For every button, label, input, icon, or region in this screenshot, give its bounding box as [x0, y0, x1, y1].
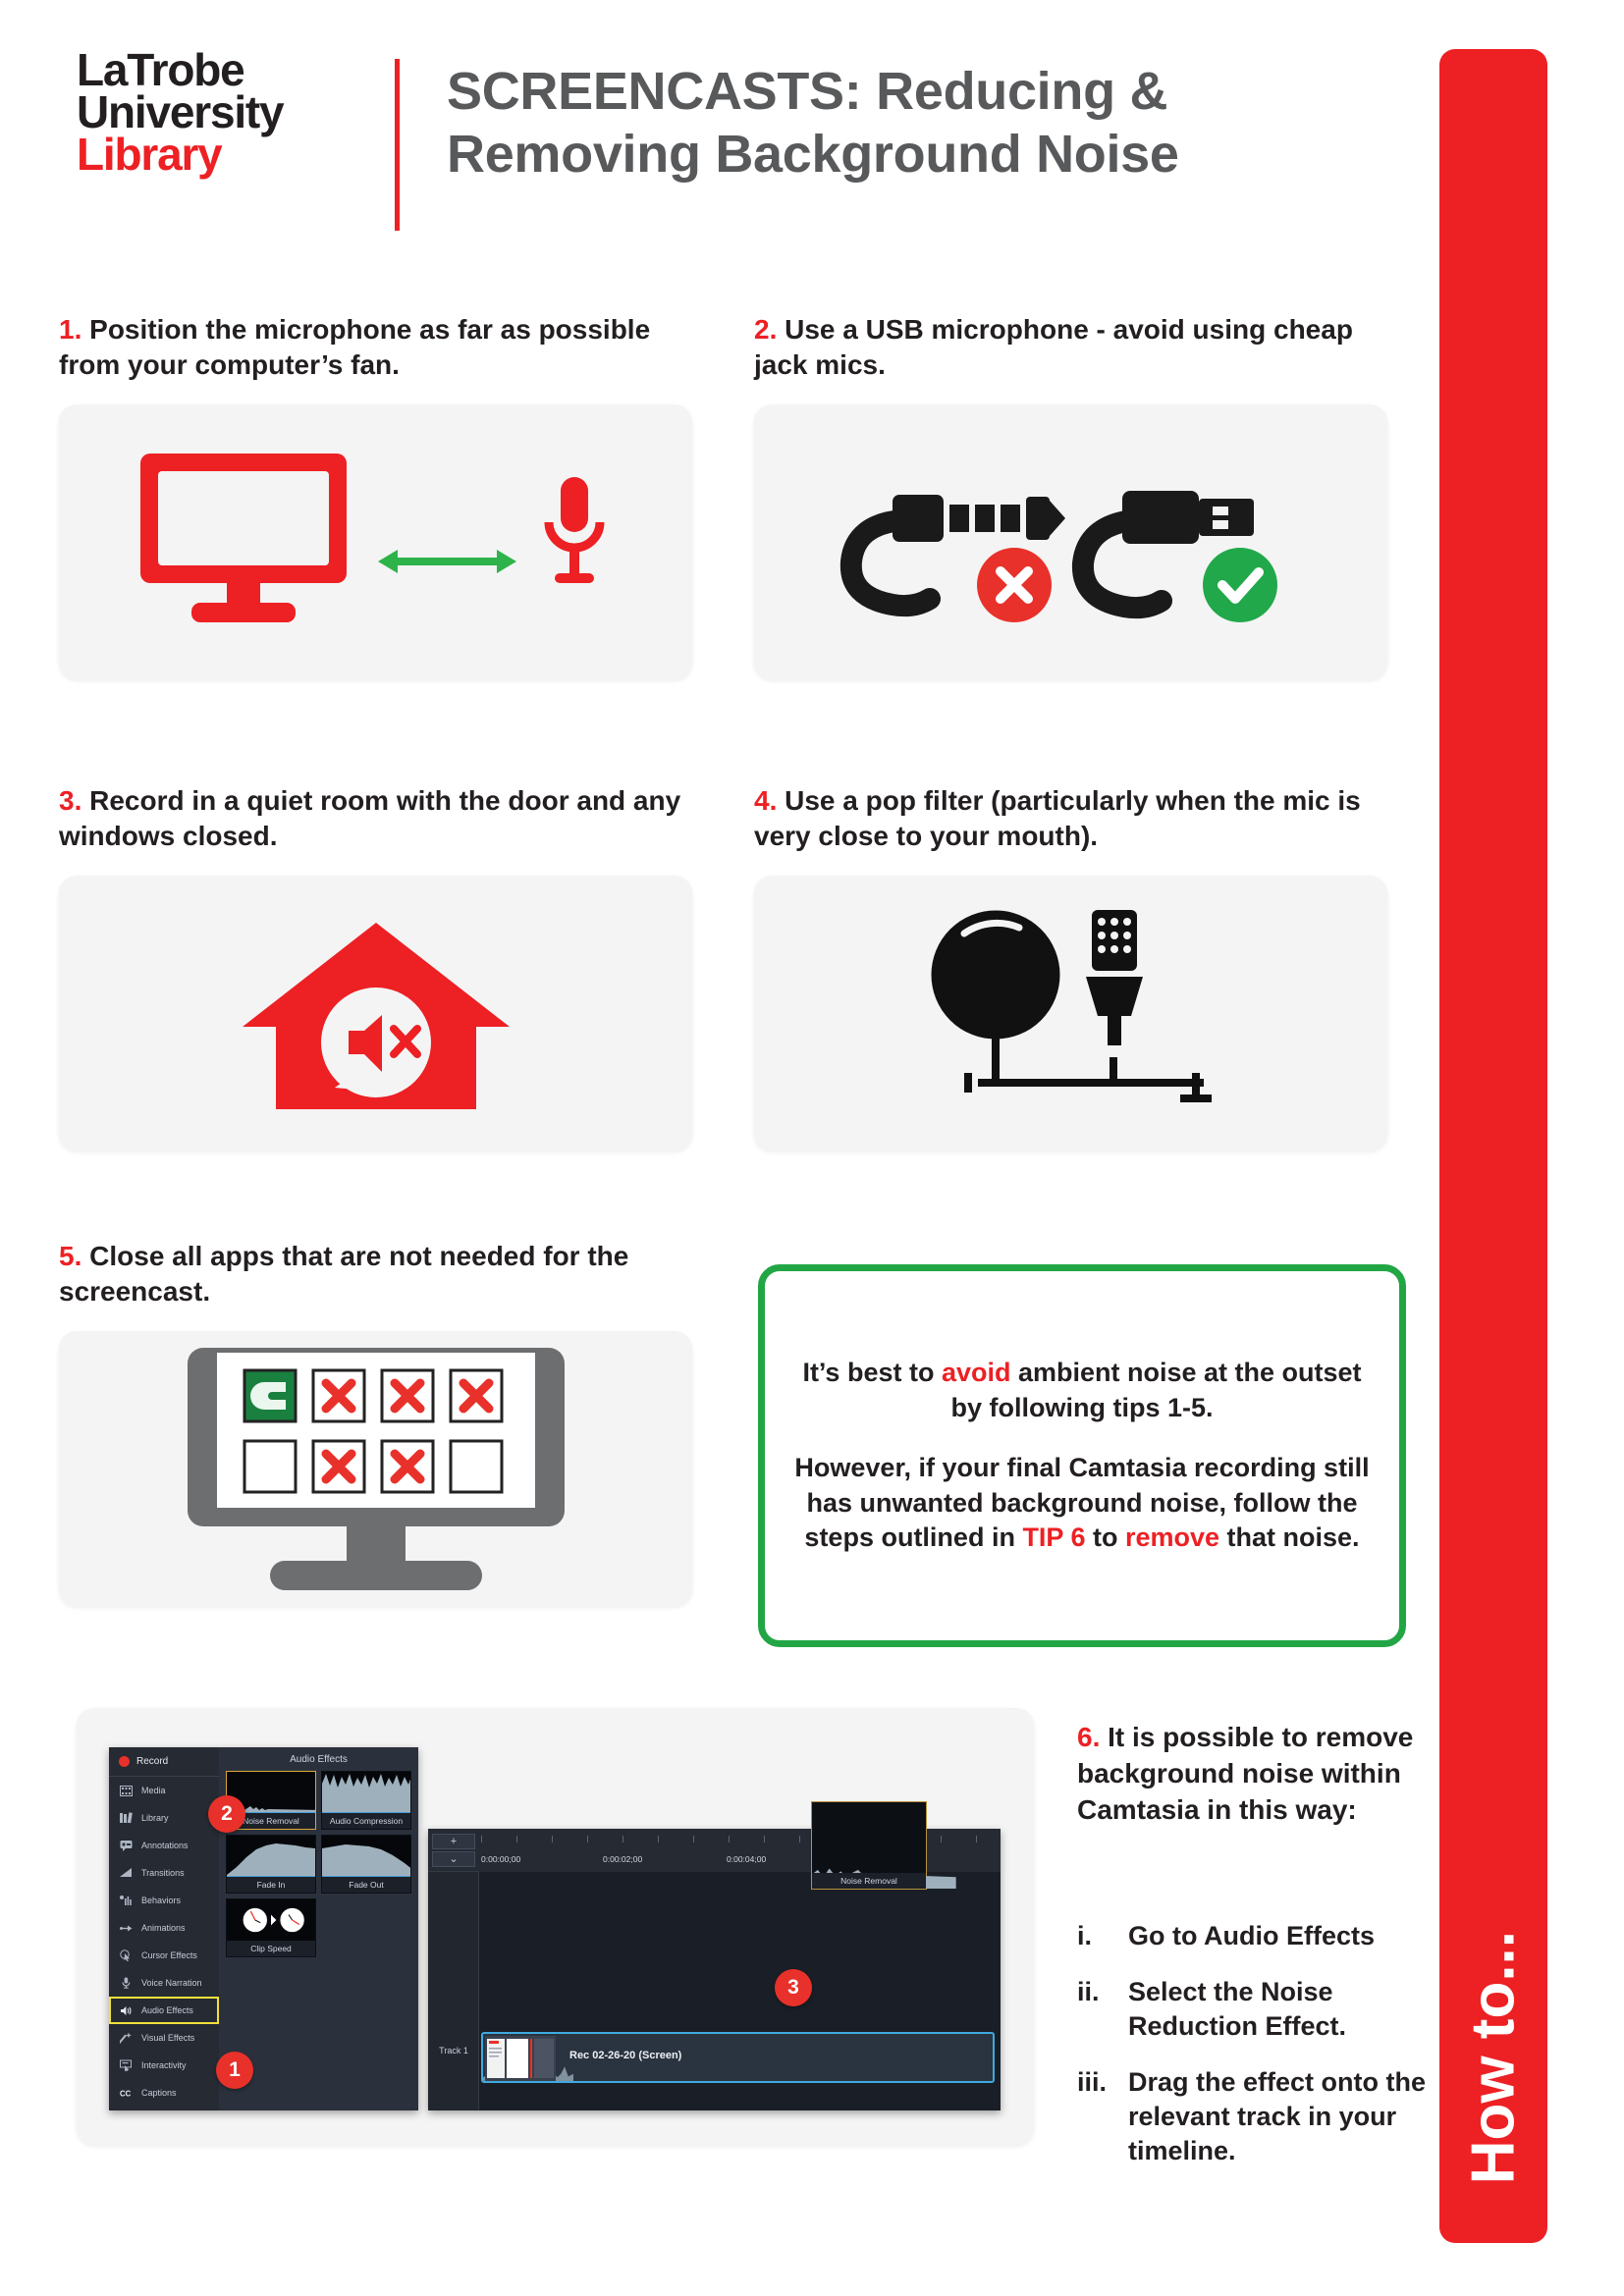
tip-2-text: 2. Use a USB microphone - avoid using ch… [754, 312, 1382, 383]
sidebar-item-animations[interactable]: Animations [109, 1914, 219, 1942]
callout-p2-highlight-tip6: TIP 6 [1022, 1522, 1085, 1552]
effect-thumbnail [227, 1836, 315, 1877]
tip-2: 2. Use a USB microphone - avoid using ch… [754, 312, 1387, 679]
sidebar-label: How to... [1459, 1931, 1529, 2184]
camtasia-timeline: + ⌄ 0:00:00;00 0:00:02;00 0:00:04;00 0:0… [428, 1829, 1001, 2110]
sidebar-item-label: Transitions [141, 1868, 185, 1878]
monitor-distance-microphone-icon [101, 436, 651, 647]
tip-4-number: 4. [754, 785, 777, 816]
step-marker-ii: ii. [1077, 1975, 1128, 2044]
svg-text:CC: CC [120, 2089, 132, 2097]
timecode-2: 0:00:02;00 [603, 1854, 642, 1864]
tip-4-text: 4. Use a pop filter (particularly when t… [754, 783, 1382, 854]
callout-icon [120, 1840, 133, 1852]
sidebar-item-label: Interactivity [141, 2060, 187, 2070]
step-marker-iii: iii. [1077, 2065, 1128, 2168]
tip-6-number: 6. [1077, 1722, 1100, 1752]
timeline-body: Noise Removal Track 1 [428, 1872, 1001, 2110]
effect-clip-speed[interactable]: Clip Speed [226, 1898, 316, 1957]
sidebar-item-label: Annotations [141, 1841, 189, 1850]
clip-thumbnail [485, 2036, 556, 2081]
panel-title: Audio Effects [219, 1747, 418, 1771]
callout-p1-b: ambient noise at the outset by following… [950, 1358, 1361, 1422]
green-callout-box: It’s best to avoid ambient noise at the … [758, 1264, 1406, 1647]
tip-1-body: Position the microphone as far as possib… [59, 314, 650, 380]
jack-vs-usb-plug-icon [786, 436, 1356, 647]
clip-name: Rec 02-26-20 (Screen) [569, 2050, 681, 2061]
track-label: Track 1 [428, 2046, 479, 2056]
sidebar-item-behaviors[interactable]: Behaviors [109, 1887, 219, 1914]
record-button[interactable]: Record [109, 1747, 219, 1777]
camtasia-left-nav: Record Media Library [109, 1747, 219, 2110]
callout-p2-b: that noise. [1219, 1522, 1360, 1552]
sidebar-item-media[interactable]: Media [109, 1777, 219, 1804]
zoom-menu-button[interactable]: ⌄ [432, 1851, 475, 1867]
sidebar-item-voice-narration[interactable]: Voice Narration [109, 1969, 219, 1997]
effect-accent-line [322, 1812, 410, 1814]
tip-4-body: Use a pop filter (particularly when the … [754, 785, 1361, 851]
sidebar-item-label: Media [141, 1786, 166, 1795]
effect-label: Clip Speed [227, 1941, 315, 1956]
header-divider [395, 59, 400, 231]
dragged-noise-removal-effect[interactable]: Noise Removal [811, 1801, 927, 1890]
tip-1-text: 1. Position the microphone as far as pos… [59, 312, 687, 383]
monitor-close-apps-icon [180, 1343, 572, 1593]
effect-label: Fade In [227, 1877, 315, 1893]
tip-3-body: Record in a quiet room with the door and… [59, 785, 680, 851]
tip-3-card [59, 876, 692, 1150]
callout-paragraph-2: However, if your final Camtasia recordin… [794, 1451, 1370, 1556]
tip-4: 4. Use a pop filter (particularly when t… [754, 783, 1387, 1150]
sidebar-item-annotations[interactable]: Annotations [109, 1832, 219, 1859]
tip-1-number: 1. [59, 314, 81, 345]
effect-accent-line [227, 1876, 315, 1878]
annotation-badge-3: 3 [775, 1969, 812, 2006]
dropped-effect-label: Noise Removal [812, 1873, 926, 1889]
books-icon [120, 1812, 133, 1825]
waveform-dense-icon [322, 1772, 410, 1813]
camtasia-window: Record Media Library [109, 1747, 418, 2110]
sidebar-item-label: Cursor Effects [141, 1950, 197, 1960]
effect-fade-out[interactable]: Fade Out [321, 1835, 411, 1894]
microphone-icon [120, 1977, 133, 1990]
speaker-icon [120, 2004, 133, 2017]
timeline-zoom-controls[interactable]: + ⌄ [428, 1834, 479, 1867]
list-item: iii. Drag the effect onto the relevant t… [1077, 2065, 1445, 2168]
list-item: i. Go to Audio Effects [1077, 1919, 1445, 1953]
tip-3-text: 3. Record in a quiet room with the door … [59, 783, 687, 854]
effects-grid: Noise Removal Audio Compression [219, 1771, 418, 1957]
how-to-sidebar: How to... [1439, 49, 1547, 2243]
page-header: LaTrobe University Library SCREENCASTS: … [77, 49, 1380, 231]
sidebar-item-captions[interactable]: CC Captions [109, 2079, 219, 2107]
behaviors-icon [120, 1895, 133, 1907]
timecode-0: 0:00:00;00 [481, 1854, 520, 1864]
sidebar-item-label: Behaviors [141, 1896, 181, 1905]
callout-p2-highlight-remove: remove [1125, 1522, 1219, 1552]
sidebar-item-visual-effects[interactable]: Visual Effects [109, 2024, 219, 2052]
callout-p1-highlight-avoid: avoid [942, 1358, 1011, 1387]
annotation-badge-2: 2 [208, 1795, 245, 1833]
record-dot-icon [119, 1756, 130, 1767]
sidebar-item-label: Voice Narration [141, 1978, 202, 1988]
tip-5: 5. Close all apps that are not needed fo… [59, 1239, 692, 1606]
callout-paragraph-1: It’s best to avoid ambient noise at the … [794, 1356, 1370, 1425]
sidebar-item-transitions[interactable]: Transitions [109, 1859, 219, 1887]
annotation-badge-1: 1 [216, 2052, 253, 2089]
logo-line-latrobe: LaTrobe [77, 49, 381, 91]
zoom-in-button[interactable]: + [432, 1834, 475, 1849]
audio-effects-panel: Audio Effects Noise Removal [219, 1747, 418, 2110]
cursor-icon [120, 1949, 133, 1962]
sidebar-item-library[interactable]: Library [109, 1804, 219, 1832]
effect-fade-in[interactable]: Fade In [226, 1835, 316, 1894]
effect-accent-line [322, 1876, 410, 1878]
timeline-track-1: Track 1 [428, 2032, 1001, 2083]
pop-filter-microphone-icon [909, 890, 1233, 1136]
tip-2-card [754, 404, 1387, 679]
page-title: SCREENCASTS: Reducing & Removing Backgro… [447, 61, 1380, 186]
sidebar-item-label: Audio Effects [141, 2005, 193, 2015]
clock-speed-icon [227, 1899, 315, 1941]
tip-2-number: 2. [754, 314, 777, 345]
logo-line-library: Library [77, 133, 381, 176]
infographic-page: LaTrobe University Library SCREENCASTS: … [0, 0, 1624, 2296]
logo-line-university: University [77, 91, 381, 133]
cc-icon: CC [120, 2087, 133, 2100]
sidebar-item-label: Library [141, 1813, 169, 1823]
effect-thumbnail [227, 1899, 315, 1941]
film-strip-icon [120, 1785, 133, 1797]
timeline-clip[interactable]: Rec 02-26-20 (Screen) [481, 2032, 995, 2083]
callout-p1-a: It’s best to [802, 1358, 942, 1387]
transition-icon [120, 1867, 133, 1880]
arrow-animation-icon [120, 1922, 133, 1935]
tip-3-number: 3. [59, 785, 81, 816]
latrobe-library-logo: LaTrobe University Library [77, 49, 381, 175]
waveform-fade-out-icon [322, 1836, 410, 1877]
house-mute-icon [229, 905, 523, 1121]
timecode-4: 0:00:04;00 [727, 1854, 766, 1864]
sidebar-item-label: Animations [141, 1923, 186, 1933]
step-text-i: Go to Audio Effects [1128, 1919, 1375, 1953]
magic-wand-icon [120, 2032, 133, 2045]
effect-thumbnail [322, 1836, 410, 1877]
sidebar-item-interactivity[interactable]: Interactivity [109, 2052, 219, 2079]
sidebar-item-cursor-effects[interactable]: Cursor Effects [109, 1942, 219, 1969]
tip-2-body: Use a USB microphone - avoid using cheap… [754, 314, 1353, 380]
step-marker-i: i. [1077, 1919, 1128, 1953]
effect-thumbnail [322, 1772, 410, 1813]
clip-thumbnail-image [485, 2036, 556, 2081]
tip-1: 1. Position the microphone as far as pos… [59, 312, 692, 679]
tip-1-card [59, 404, 692, 679]
tip-5-text: 5. Close all apps that are not needed fo… [59, 1239, 687, 1309]
tip-5-number: 5. [59, 1241, 81, 1271]
interactivity-icon [120, 2059, 133, 2072]
tip-5-body: Close all apps that are not needed for t… [59, 1241, 628, 1307]
step-text-iii: Drag the effect onto the relevant track … [1128, 2065, 1445, 2168]
sidebar-item-audio-effects[interactable]: Audio Effects [109, 1997, 219, 2024]
tip-4-card [754, 876, 1387, 1150]
waveform-fade-in-icon [227, 1836, 315, 1877]
callout-p2-mid: to [1085, 1522, 1125, 1552]
effect-label: Audio Compression [322, 1813, 410, 1829]
sidebar-item-label: Captions [141, 2088, 177, 2098]
tip-5-card [59, 1331, 692, 1606]
tip-6-intro: It is possible to remove background nois… [1077, 1722, 1413, 1825]
step-text-ii: Select the Noise Reduction Effect. [1128, 1975, 1445, 2044]
tip-6-steps-list: i. Go to Audio Effects ii. Select the No… [1077, 1919, 1445, 2191]
list-item: ii. Select the Noise Reduction Effect. [1077, 1975, 1445, 2044]
sidebar-label-text: How to... [1459, 1931, 1529, 2184]
tip-6-text: 6. It is possible to remove background n… [1077, 1720, 1431, 1829]
tip-3: 3. Record in a quiet room with the door … [59, 783, 692, 1150]
effect-audio-compression[interactable]: Audio Compression [321, 1771, 411, 1830]
sidebar-item-label: Visual Effects [141, 2033, 194, 2043]
effect-label: Fade Out [322, 1877, 410, 1893]
record-label: Record [136, 1756, 168, 1767]
